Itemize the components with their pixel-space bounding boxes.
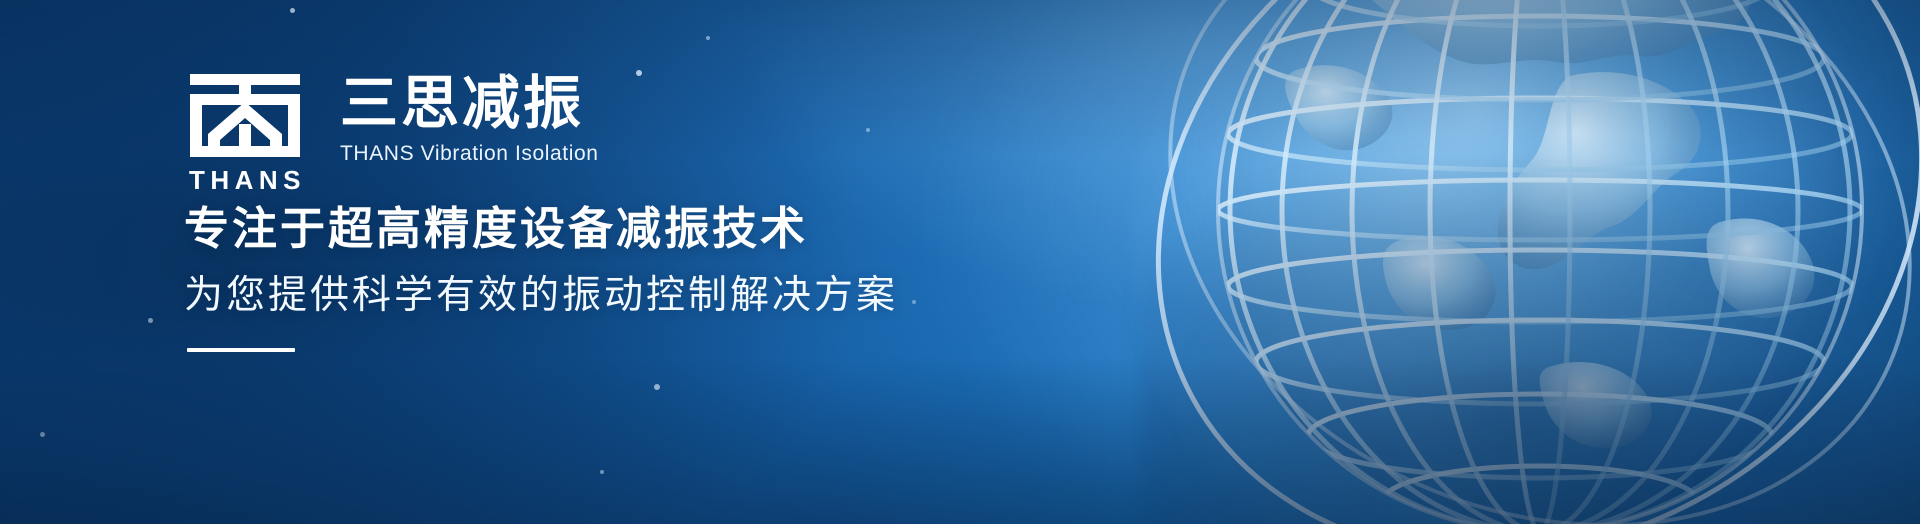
banner-subheadline: 为您提供科学有效的振动控制解决方案 — [184, 274, 898, 318]
banner-content: THANS 三思减振 THANS Vibration Isolation 专注于… — [184, 0, 1084, 524]
thans-seal-logo-icon — [186, 72, 304, 158]
banner-headline: 专注于超高精度设备减振技术 — [184, 204, 808, 254]
hero-banner: THANS 三思减振 THANS Vibration Isolation 专注于… — [0, 0, 1920, 524]
brand-name-block: 三思减振 THANS Vibration Isolation — [340, 72, 599, 164]
logo-wordmark: THANS — [184, 167, 306, 193]
brand-name-en: THANS Vibration Isolation — [340, 143, 599, 164]
sparkle-icon — [148, 318, 153, 323]
decorative-underline — [187, 348, 295, 352]
brand-lockup: THANS 三思减振 THANS Vibration Isolation — [184, 72, 599, 193]
brand-name-cn: 三思减振 — [340, 74, 599, 133]
sparkle-icon — [40, 432, 45, 437]
company-logo: THANS — [184, 72, 306, 193]
